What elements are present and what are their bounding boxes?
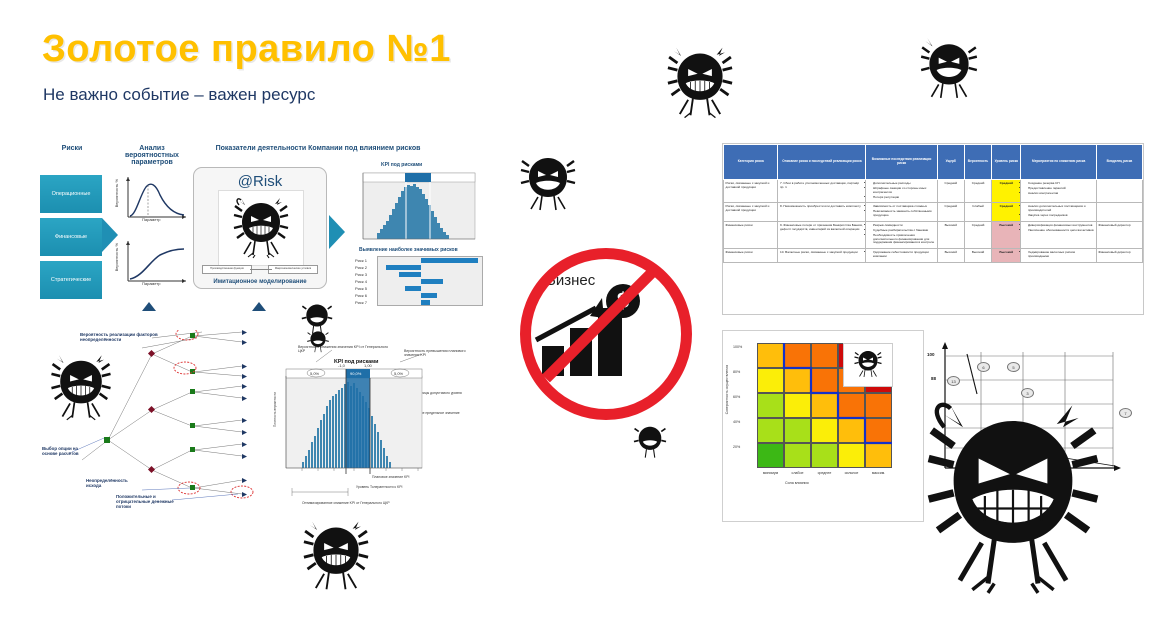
cell-probability: Высокий — [964, 249, 991, 263]
heatmap-y-tick: 80% — [733, 370, 740, 374]
cell-consequences: Разрыв ликвидностиСудебные разбирательст… — [866, 222, 937, 249]
scatter-point[interactable]: 5 — [1007, 362, 1020, 372]
cell-probability: Слабый — [964, 203, 991, 222]
cell-damage: Высокий — [937, 222, 964, 249]
axis-y-label: Вероятность % — [115, 179, 119, 207]
axis-x-label: Параметр — [142, 218, 160, 222]
ban-circle-icon — [520, 248, 692, 420]
cell-category: Финансовые риски — [724, 222, 778, 249]
analysis-column-heading: Анализ вероятностных параметров — [112, 145, 192, 166]
table-row[interactable]: Риски, связанные с закупкой и доставкой … — [724, 180, 1143, 203]
prohibition-sign: Бизнес $ — [512, 236, 688, 408]
col-category: Категория риска — [724, 145, 778, 180]
heatmap-cell-r2-c1[interactable] — [784, 393, 811, 418]
tornado-bar — [399, 272, 421, 277]
heatmap-cell-r1-c0[interactable] — [757, 368, 784, 393]
heatmap-cell-r4-c4[interactable] — [865, 443, 892, 468]
col-probability: Вероятность — [964, 145, 991, 180]
monster-icon — [918, 36, 980, 102]
risk-box-operational[interactable]: Операционные — [40, 175, 102, 213]
tornado-label: Риск 4 — [355, 279, 367, 284]
tornado-label: Риск 5 — [355, 286, 367, 291]
monster-icon — [853, 346, 883, 380]
triangle-marker-2 — [252, 302, 266, 311]
monster-icon — [518, 150, 578, 214]
tornado-bar — [421, 300, 430, 305]
cumulative-probability-plot: Вероятность % Параметр — [116, 237, 190, 291]
cell-description: 9. Финансовые потери от признания Банкро… — [778, 222, 866, 249]
kpi-column-heading: Показатели деятельности Компании под вли… — [193, 145, 443, 152]
cell-measures: Хеджирование валютных рисков производным… — [1021, 249, 1096, 263]
heatmap-cell-r3-c3[interactable] — [838, 418, 865, 443]
monster-icon — [664, 44, 736, 120]
scatter-point[interactable]: 6 — [977, 362, 990, 372]
heatmap-y-tick: 20% — [733, 445, 740, 449]
scatter-point[interactable]: 7 — [1119, 408, 1132, 418]
table-row[interactable]: Риски, связанные с закупкой и доставкой … — [724, 203, 1143, 222]
heatmap-x-tick: минимум — [757, 471, 784, 475]
cell-category: Риски, связанные с закупкой и доставкой … — [724, 203, 778, 222]
tornado-bar — [386, 265, 421, 270]
heatmap-x-tick: максим. — [865, 471, 892, 475]
monster-icon — [48, 352, 114, 422]
tornado-label: Риск 7 — [355, 300, 367, 305]
probability-density-plot: Вероятность % Параметр — [116, 173, 190, 227]
heatmap-x-tick: среднее — [811, 471, 838, 475]
col-level: Уровень риска — [992, 145, 1021, 180]
cell-probability: Средний — [964, 222, 991, 249]
cell-consequences: Дополнительные расходыШтрафные санкции с… — [866, 180, 937, 203]
cell-description: 10. Валютные риски, связанные с закупкой… — [778, 249, 866, 263]
cell-category: Финансовые риски — [724, 249, 778, 263]
heatmap-monster-inset — [843, 343, 893, 387]
at-risk-monster-image — [218, 190, 304, 266]
axis-x-label-2: Параметр — [142, 282, 160, 286]
svg-text:90,0%: 90,0% — [350, 371, 362, 376]
cell-level: Высокий — [992, 249, 1021, 263]
heatmap-cell-r4-c1[interactable] — [784, 443, 811, 468]
page-title: Золотое правило №1 — [42, 28, 451, 71]
at-risk-panel: @Risk — [193, 167, 327, 289]
cell-measures: Анализ дополнительных поставщиков и прои… — [1021, 203, 1096, 222]
tornado-title: Выявление наиболее значимых рисков — [359, 248, 458, 254]
cell-level: Высокий — [992, 222, 1021, 249]
heatmap-y-axis-label: Совероятность осуществления — [725, 365, 729, 414]
heatmap-y-tick: 40% — [733, 420, 740, 424]
scatter-y-tick: 88 — [931, 376, 936, 381]
chip-connector — [250, 269, 272, 270]
svg-text:1,00: 1,00 — [364, 363, 373, 368]
tornado-label: Риск 3 — [355, 272, 367, 277]
at-risk-chip-right: Макроэкономические условия — [268, 265, 318, 274]
at-risk-label: @Risk — [194, 173, 326, 190]
cell-consequences: Зависимость от поставщика сложныхНевозмо… — [866, 203, 937, 222]
kpi-chart-title: KPI под рисками — [381, 163, 422, 169]
svg-text:-1,0: -1,0 — [338, 363, 346, 368]
axis-y-label-2: Вероятность % — [115, 243, 119, 271]
risk-flow-diagram: Риски Анализ вероятностных параметров По… — [38, 145, 538, 320]
cell-level: Средний — [992, 180, 1021, 203]
monster-icon — [300, 518, 372, 594]
scatter-y-tick: 100 — [927, 352, 935, 357]
at-risk-chip-left: Производственная функция — [202, 265, 252, 274]
heatmap-y-tick: 60% — [733, 395, 740, 399]
tornado-bar — [421, 258, 478, 263]
col-owner: Владелец риска — [1096, 145, 1142, 180]
table-row[interactable]: Финансовые риски10. Валютные риски, связ… — [724, 249, 1143, 263]
monster-icon — [300, 300, 334, 336]
heatmap-cell-r3-c1[interactable] — [784, 418, 811, 443]
heatmap-y-tick: 100% — [733, 345, 742, 349]
cell-measures: Создание резерва СППредоставление гарант… — [1021, 180, 1096, 203]
risk-column-heading: Риски — [42, 145, 102, 152]
svg-text:5,0%: 5,0% — [394, 371, 404, 376]
cell-owner — [1096, 180, 1142, 203]
slide-root: Золотое правило №1 Не важно событие – ва… — [0, 0, 1156, 626]
heatmap-cell-r0-c1[interactable] — [784, 343, 811, 368]
col-damage: Ущерб — [937, 145, 964, 180]
tornado-bar — [421, 293, 437, 298]
cell-damage: Средний — [937, 180, 964, 203]
svg-text:5,0%: 5,0% — [310, 371, 320, 376]
monster-icon — [918, 396, 1108, 596]
heatmap-x-axis-label: Сила влияния — [785, 481, 809, 485]
decision-tree-diagram: Вероятность реализации факторов неопреде… — [42, 330, 277, 515]
cell-owner — [1096, 203, 1142, 222]
heatmap-cell-r2-c4[interactable] — [865, 393, 892, 418]
cell-level: Средний — [992, 203, 1021, 222]
cell-damage: Средний — [937, 203, 964, 222]
tornado-label: Риск 2 — [355, 265, 367, 270]
tornado-bar — [405, 286, 421, 291]
cell-owner: Финансовый директор — [1096, 249, 1142, 263]
tornado-bar — [421, 279, 443, 284]
cell-category: Риски, связанные с закупкой и доставкой … — [724, 180, 778, 203]
heatmap-cell-r3-c4[interactable] — [865, 418, 892, 443]
heatmap-cell-r4-c0[interactable] — [757, 443, 784, 468]
table-body: Риски, связанные с закупкой и доставкой … — [724, 180, 1143, 263]
cell-owner: Финансовый директор — [1096, 222, 1142, 249]
cell-measures: Диверсификация финансовых инструментовУв… — [1021, 222, 1096, 249]
heatmap-cell-r2-c3[interactable] — [838, 393, 865, 418]
cell-damage: Высокий — [937, 249, 964, 263]
tornado-label: Риск 6 — [355, 293, 367, 298]
heatmap-x-tick: сильное — [838, 471, 865, 475]
cell-description: 7. Сбои в работе уполномоченных доставщи… — [778, 180, 866, 203]
page-subtitle: Не важно событие – важен ресурс — [43, 85, 315, 105]
heatmap-cell-r4-c3[interactable] — [838, 443, 865, 468]
heatmap-cell-r0-c2[interactable] — [811, 343, 838, 368]
cell-probability: Средний — [964, 180, 991, 203]
col-measures: Мероприятия по снижению риска — [1021, 145, 1096, 180]
heatmap-cell-r2-c0[interactable] — [757, 393, 784, 418]
tornado-chart: Выявление наиболее значимых рисков Риск … — [353, 248, 483, 310]
cell-description: 8. Невозможность приобрести или доставит… — [778, 203, 866, 222]
cell-consequences: Удорожание себестоимости продукции компа… — [866, 249, 937, 263]
risk-heatmap-chart: 100% 80% 60% 40% 20% минимум слабое сред… — [722, 330, 924, 522]
risk-register-table: Категория риска Описание риска и последс… — [722, 143, 1144, 315]
triangle-marker-1 — [142, 302, 156, 311]
heatmap-cell-r1-c1[interactable] — [784, 368, 811, 393]
kpi-histogram-diagram: Вероятность снижения значения KPI от Ген… — [272, 336, 494, 511]
scatter-point[interactable]: 13 — [947, 376, 960, 386]
table-row[interactable]: Финансовые риски9. Финансовые потери от … — [724, 222, 1143, 249]
kpi-distribution-chart: KPI под рисками — [353, 163, 478, 243]
heatmap-cell-r3-c0[interactable] — [757, 418, 784, 443]
col-consequences: Возможные последствия реализации риска — [866, 145, 937, 180]
monster-icon — [632, 422, 668, 460]
tornado-label: Риск 1 — [355, 258, 367, 263]
col-description: Описание риска и последствий реализации … — [778, 145, 866, 180]
table-header-row: Категория риска Описание риска и последс… — [724, 145, 1143, 180]
heatmap-cell-r3-c2[interactable] — [811, 418, 838, 443]
heatmap-x-tick: слабое — [784, 471, 811, 475]
heatmap-cell-r0-c0[interactable] — [757, 343, 784, 368]
heatmap-cell-r2-c2[interactable] — [811, 393, 838, 418]
heatmap-cell-r4-c2[interactable] — [811, 443, 838, 468]
flow-arrow-2 — [329, 215, 345, 249]
monster-icon — [231, 195, 291, 259]
heatmap-cell-r1-c2[interactable] — [811, 368, 838, 393]
risk-box-strategic[interactable]: Стратегические — [40, 261, 102, 299]
risk-box-financial[interactable]: Финансовые — [40, 218, 102, 256]
at-risk-footer: Имитационное моделирование — [194, 279, 326, 285]
